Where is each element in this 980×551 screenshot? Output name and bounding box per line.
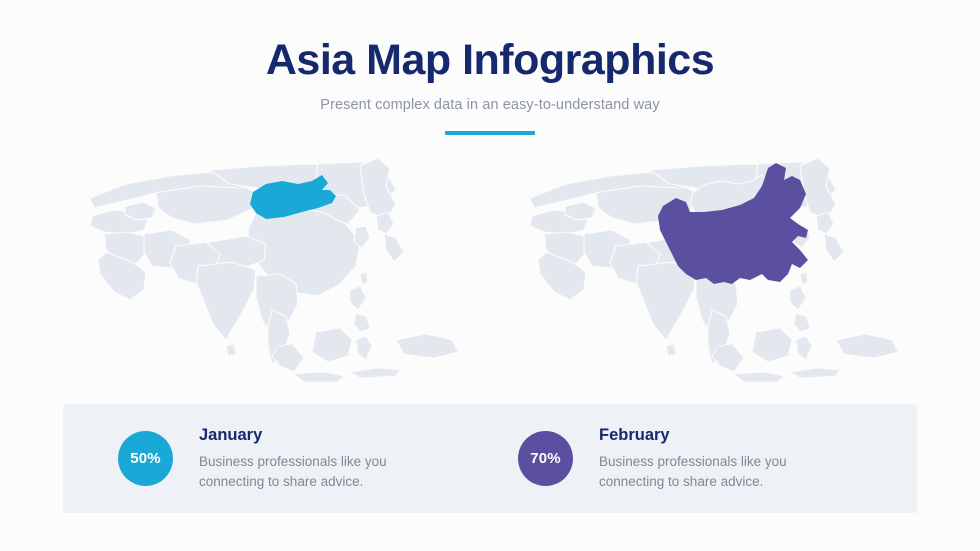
page-title: Asia Map Infographics: [0, 38, 980, 83]
legend-item-february[interactable]: 70% February Business professionals like…: [518, 404, 898, 513]
legend-title: January: [199, 426, 429, 446]
legend-title: February: [599, 426, 829, 446]
legend-item-january[interactable]: 50% January Business professionals like …: [118, 404, 498, 513]
percent-badge-february: 70%: [518, 431, 573, 486]
page-subtitle: Present complex data in an easy-to-under…: [0, 97, 980, 114]
header: Asia Map Infographics Present complex da…: [0, 38, 980, 135]
slide-root: Asia Map Infographics Present complex da…: [0, 0, 980, 551]
percent-value: 70%: [530, 450, 561, 467]
percent-value: 50%: [130, 450, 161, 467]
legend-text-january: January Business professionals like you …: [199, 426, 429, 492]
legend-description: Business professionals like you connecti…: [599, 452, 829, 491]
map-asia-mongolia[interactable]: [60, 150, 480, 390]
title-divider: [445, 131, 535, 135]
legend-description: Business professionals like you connecti…: [199, 452, 429, 491]
map-base-countries: [90, 158, 404, 364]
legend-text-february: February Business professionals like you…: [599, 426, 829, 492]
map-asia-china[interactable]: [500, 150, 920, 390]
percent-badge-january: 50%: [118, 431, 173, 486]
legend-panel: 50% January Business professionals like …: [63, 404, 917, 513]
maps-container: [0, 150, 980, 390]
